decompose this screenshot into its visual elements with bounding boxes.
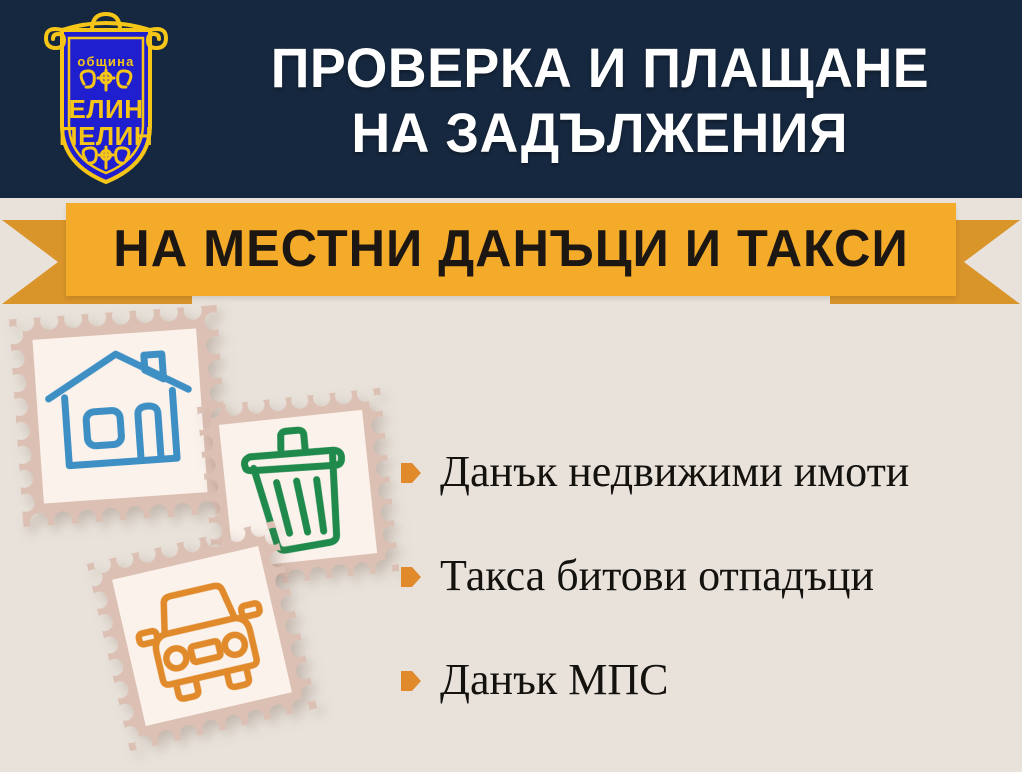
- list-item[interactable]: Данък МПС: [400, 628, 1015, 732]
- municipality-logo: община ЕЛИН ПЕЛИН: [36, 8, 176, 190]
- arrow-right-bullet-icon: [400, 564, 422, 590]
- list-item-label: Данък недвижими имоти: [440, 449, 909, 495]
- ribbon-text: НА МЕСТНИ ДАНЪЦИ И ТАКСИ: [113, 223, 908, 275]
- subtitle-ribbon: НА МЕСТНИ ДАНЪЦИ И ТАКСИ: [0, 196, 1022, 308]
- list-item-label: Такса битови отпадъци: [440, 553, 874, 599]
- title-line-1: ПРОВЕРКА И ПЛАЩАНЕ: [271, 36, 929, 101]
- list-item-label: Данък МПС: [440, 657, 668, 703]
- list-item[interactable]: Такса битови отпадъци: [400, 524, 1015, 628]
- poster-title: ПРОВЕРКА И ПЛАЩАНЕ НА ЗАДЪЛЖЕНИЯ: [190, 16, 1010, 186]
- list-item[interactable]: Данък недвижими имоти: [400, 420, 1015, 524]
- header-banner: община ЕЛИН ПЕЛИН: [0, 0, 1022, 198]
- svg-text:община: община: [77, 54, 134, 69]
- arrow-right-bullet-icon: [400, 668, 422, 694]
- ribbon-band: НА МЕСТНИ ДАНЪЦИ И ТАКСИ: [66, 203, 956, 296]
- service-list: Данък недвижими имоти Такса битови отпад…: [400, 420, 1015, 732]
- title-line-2: НА ЗАДЪЛЖЕНИЯ: [352, 101, 849, 166]
- svg-text:ЕЛИН: ЕЛИН: [68, 94, 143, 124]
- poster-canvas: община ЕЛИН ПЕЛИН: [0, 0, 1022, 772]
- arrow-right-bullet-icon: [400, 460, 422, 486]
- stamp-collage: [0, 300, 430, 772]
